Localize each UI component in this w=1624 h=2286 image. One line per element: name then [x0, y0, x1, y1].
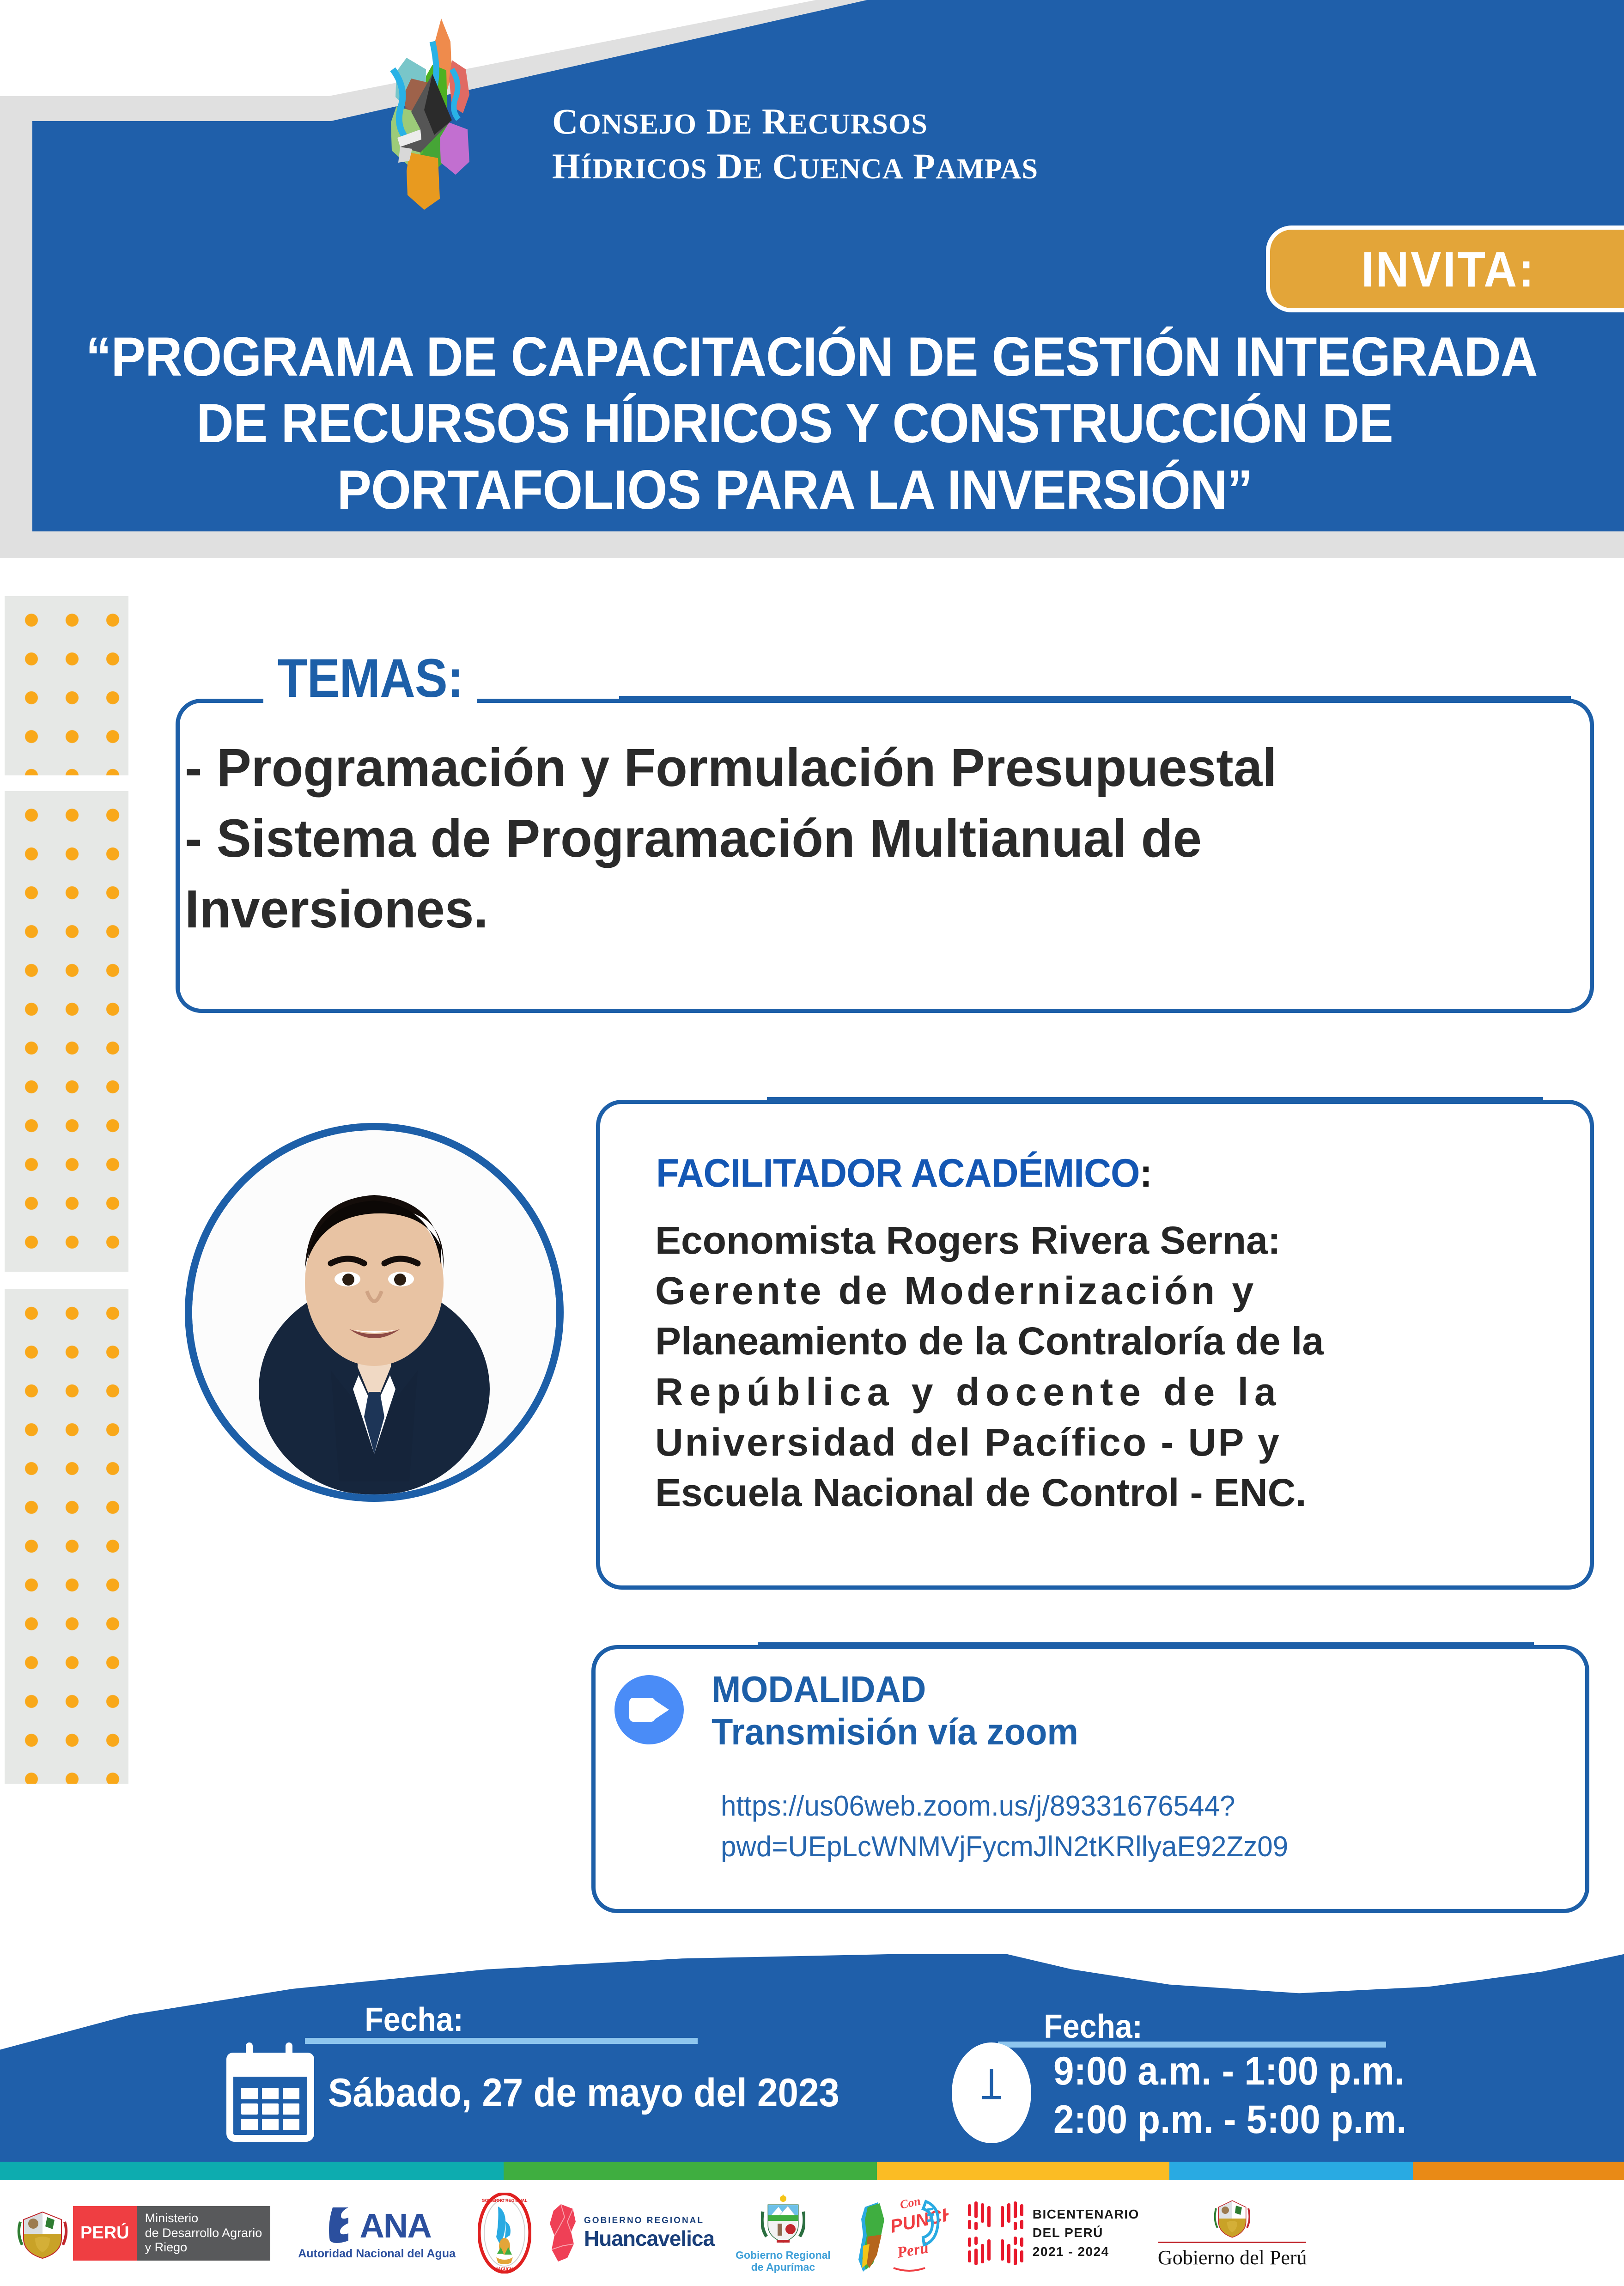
gobierno-rule — [1158, 2242, 1306, 2243]
logo-gobierno-del-peru: Gobierno del Perú — [1158, 2197, 1307, 2269]
strip-segment-green — [504, 2162, 877, 2180]
facilitator-heading-colon: : — [1140, 1151, 1152, 1195]
bio-line: Escuela Nacional de Control - ENC. — [655, 1468, 1533, 1518]
clock-icon — [952, 2042, 1031, 2143]
list-item: Inversiones. — [185, 874, 1547, 945]
strip-segment-yellow — [877, 2162, 1169, 2180]
time-line: 2:00 p.m. - 5:00 p.m. — [1053, 2096, 1407, 2144]
list-item: - Sistema de Programación Multianual de — [185, 803, 1547, 874]
event-times: 9:00 a.m. - 1:00 p.m. 2:00 p.m. - 5:00 p… — [1053, 2047, 1407, 2144]
temas-list: - Programación y Formulación Presupuesta… — [185, 732, 1547, 945]
gobierno-coat-of-arms-icon — [1214, 2197, 1250, 2240]
bio-line: Planeamiento de la Contraloría de la — [655, 1316, 1533, 1366]
bio-line: Gerente de Modernización y — [655, 1266, 1533, 1316]
svg-text:Con: Con — [899, 2194, 922, 2212]
apurimac-coat-of-arms-icon — [761, 2193, 805, 2248]
bio-line: Economista Rogers Rivera Serna: — [655, 1215, 1533, 1266]
fecha-rule-left — [305, 2038, 698, 2044]
huancavelica-line-2: Huancavelica — [584, 2226, 714, 2251]
logo-bicentenario-del-peru: BICENTENARIO DEL PERÚ 2021 - 2024 — [965, 2199, 1139, 2268]
ana-wave-icon — [322, 2207, 357, 2244]
facilitator-heading-text: FACILITADOR ACADÉMICO — [656, 1151, 1140, 1195]
ministerio-line-3: y Riego — [145, 2240, 262, 2255]
modalidad-card-top-rule — [758, 1642, 1534, 1646]
apurimac-line-1: Gobierno Regional — [736, 2249, 831, 2261]
modalidad-subtitle: Transmisión vía zoom — [712, 1711, 1078, 1753]
modalidad-title: MODALIDAD — [712, 1668, 1078, 1711]
bio-line: Universidad del Pacífico - UP y — [655, 1417, 1533, 1468]
facilitator-card-top-rule — [767, 1097, 1543, 1101]
facilitator-avatar — [185, 1123, 564, 1502]
ministerio-line-2: de Desarrollo Agrario — [145, 2226, 262, 2241]
bio-line: República y docente de la — [655, 1367, 1533, 1417]
apurimac-line-2: de Apurímac — [751, 2261, 815, 2273]
ministerio-line-1: Ministerio — [145, 2211, 262, 2226]
huancavelica-line-1: GOBIERNO REGIONAL — [584, 2216, 714, 2226]
decorative-dot-pattern-3 — [5, 1289, 128, 1784]
title-line-2: DE RECURSOS HÍDRICOS Y CONSTRUCCIÓN DE — [86, 390, 1504, 457]
strip-segment-teal — [0, 2162, 504, 2180]
zoom-meeting-link[interactable]: https://us06web.zoom.us/j/89331676544? p… — [721, 1786, 1483, 1867]
invita-label: INVITA: — [1361, 240, 1535, 298]
bicentenario-line-3: 2021 - 2024 — [1033, 2243, 1139, 2262]
ana-acronym: ANA — [359, 2206, 431, 2245]
temas-card-top-rule — [619, 696, 1571, 700]
avatar-image — [192, 1130, 556, 1494]
page-title: “PROGRAMA DE CAPACITACIÓN DE GESTIÓN INT… — [86, 323, 1504, 523]
ana-caption: Autoridad Nacional del Agua — [298, 2247, 456, 2261]
time-line: 9:00 a.m. - 1:00 p.m. — [1053, 2047, 1407, 2096]
strip-segment-orange — [1413, 2162, 1624, 2180]
fecha-label-right: Fecha: — [1044, 2008, 1143, 2046]
logo-gobierno-regional-huancavelica: GOBIERNO REGIONAL Huancavelica — [547, 2203, 714, 2263]
fecha-label-left: Fecha: — [365, 2001, 463, 2039]
organization-name: CONSEJO DE RECURSOS HÍDRICOS DE CUENCA P… — [552, 99, 1291, 189]
bicentenario-line-2: DEL PERÚ — [1033, 2224, 1139, 2243]
facilitator-bio: Economista Rogers Rivera Serna: Gerente … — [655, 1215, 1533, 1518]
temas-heading: TEMAS: — [263, 647, 477, 710]
calendar-icon — [226, 2042, 314, 2142]
decorative-dot-pattern-2 — [5, 791, 128, 1272]
zoom-camera-icon — [614, 1675, 684, 1744]
peru-label: PERÚ — [73, 2206, 137, 2261]
modalidad-heading: MODALIDAD Transmisión vía zoom — [712, 1668, 1078, 1753]
watershed-map-logo — [342, 14, 536, 213]
invita-badge: INVITA: — [1266, 226, 1624, 312]
event-date: Sábado, 27 de mayo del 2023 — [328, 2070, 839, 2116]
list-item: - Programación y Formulación Presupuesta… — [185, 732, 1547, 803]
bicentenario-line-1: BICENTENARIO — [1033, 2205, 1139, 2224]
huancavelica-map-icon — [547, 2203, 580, 2263]
logo-gobierno-regional-ayacucho: GOBIERNO REGIONAL AYACUCHO — [478, 2193, 531, 2274]
logo-ministerio-desarrollo-agrario: PERÚ Ministerio de Desarrollo Agrario y … — [17, 2206, 270, 2261]
color-strip — [0, 2162, 1624, 2180]
logo-gobierno-regional-apurimac: Gobierno Regional de Apurímac — [736, 2193, 831, 2274]
zoom-url-line-2[interactable]: pwd=UEpLcWNMVjFycmJlN2tKRllyaE92Zz09 — [721, 1827, 1483, 1867]
logo-con-punche-peru: Con PUNCHE Perú — [849, 2190, 949, 2276]
ministerio-name: Ministerio de Desarrollo Agrario y Riego — [137, 2206, 271, 2261]
org-line-2: HÍDRICOS DE CUENCA PAMPAS — [552, 144, 1291, 189]
logo-autoridad-nacional-del-agua: ANA Autoridad Nacional del Agua — [298, 2206, 456, 2261]
sponsor-logo-bar: PERÚ Ministerio de Desarrollo Agrario y … — [0, 2180, 1624, 2286]
svg-text:AYACUCHO: AYACUCHO — [493, 2267, 516, 2271]
zoom-url-line-1[interactable]: https://us06web.zoom.us/j/89331676544? — [721, 1786, 1483, 1827]
bicentenario-burst-icon — [965, 2199, 1026, 2268]
org-line-1: CONSEJO DE RECURSOS — [552, 99, 1291, 144]
decorative-dot-pattern-1 — [5, 596, 128, 775]
title-line-3: PORTAFOLIOS PARA LA INVERSIÓN” — [86, 457, 1504, 523]
peru-coat-of-arms-icon — [17, 2206, 68, 2261]
gobierno-label: Gobierno del Perú — [1158, 2246, 1307, 2269]
poster-header: CONSEJO DE RECURSOS HÍDRICOS DE CUENCA P… — [0, 0, 1624, 561]
facilitator-heading: FACILITADOR ACADÉMICO: — [656, 1151, 1152, 1196]
title-line-1: “PROGRAMA DE CAPACITACIÓN DE GESTIÓN INT… — [86, 323, 1504, 390]
strip-segment-blue — [1169, 2162, 1413, 2180]
svg-text:GOBIERNO REGIONAL: GOBIERNO REGIONAL — [481, 2198, 528, 2203]
